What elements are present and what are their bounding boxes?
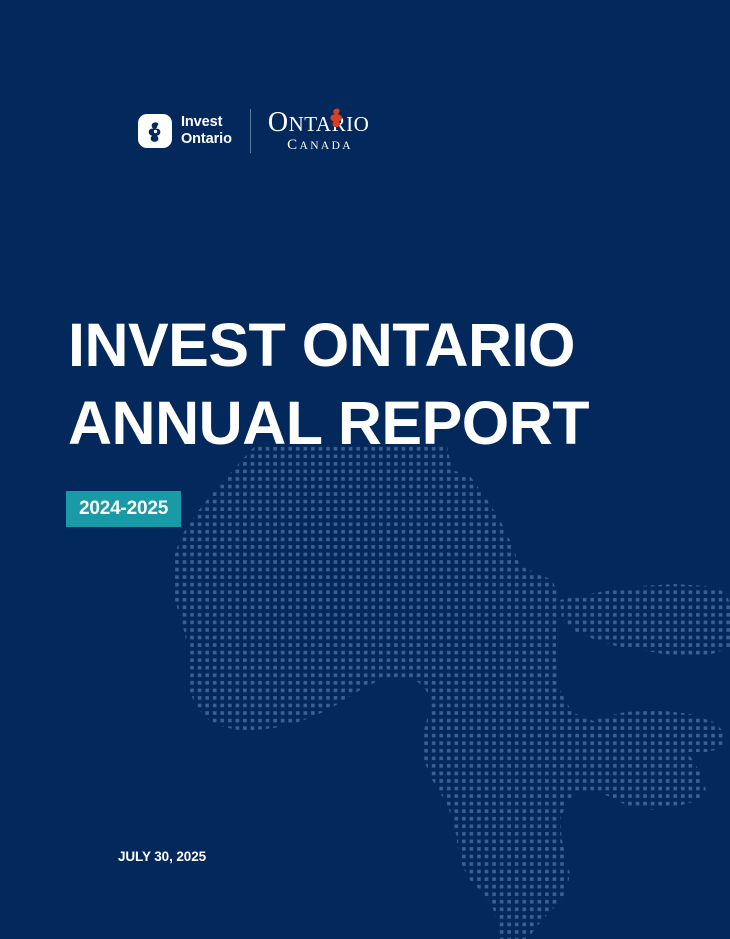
canada-wordmark-initial: C bbox=[287, 137, 299, 153]
title-line-2: ANNUAL REPORT bbox=[68, 384, 688, 462]
trillium-icon bbox=[138, 114, 172, 148]
invest-ontario-logo: Invest Ontario bbox=[138, 114, 232, 148]
ontario-wordmark-initial: O bbox=[268, 107, 289, 138]
page-title: INVEST ONTARIO ANNUAL REPORT bbox=[68, 306, 688, 462]
ontario-canada-logo: ONTARIO CANADA bbox=[268, 109, 369, 153]
year-badge: 2024-2025 bbox=[66, 491, 181, 527]
invest-ontario-wordmark: Invest Ontario bbox=[181, 114, 232, 148]
canada-wordmark-rest: ANADA bbox=[299, 140, 353, 152]
publication-date: JULY 30, 2025 bbox=[118, 849, 206, 864]
red-trillium-icon bbox=[327, 107, 347, 131]
ontario-wordmark: ONTARIO bbox=[268, 109, 369, 137]
canada-wordmark: CANADA bbox=[268, 138, 369, 153]
title-line-1: INVEST ONTARIO bbox=[68, 306, 688, 384]
invest-wordmark-line-2: Ontario bbox=[181, 131, 232, 148]
logo-divider bbox=[250, 109, 251, 153]
invest-wordmark-line-1: Invest bbox=[181, 114, 232, 131]
logo-bar: Invest Ontario ONTARIO CANADA bbox=[138, 108, 369, 154]
report-cover-page: Invest Ontario ONTARIO CANADA INVEST ONT… bbox=[0, 0, 730, 939]
